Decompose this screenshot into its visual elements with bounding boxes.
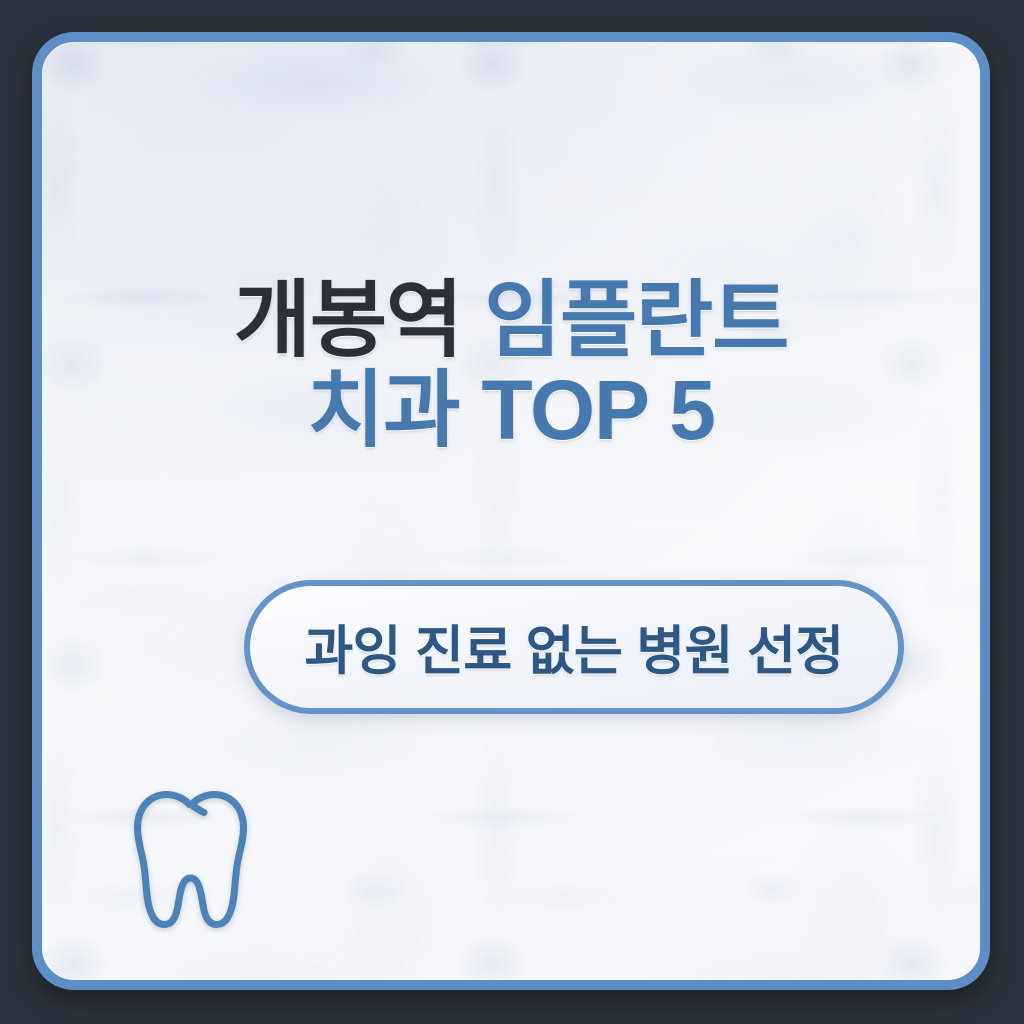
headline-keyword: 임플란트 bbox=[484, 273, 788, 367]
tooth-icon bbox=[130, 790, 248, 930]
page-title: 개봉역 임플란트 치과 TOP 5 bbox=[42, 276, 980, 456]
poster-card: 개봉역 임플란트 치과 TOP 5 과잉 진료 없는 병원 선정 bbox=[32, 32, 990, 990]
headline-space bbox=[462, 273, 484, 367]
headline-location: 개봉역 bbox=[234, 273, 462, 367]
highlight-pill-label: 과잉 진료 없는 병원 선정 bbox=[304, 609, 843, 685]
headline-line-1: 개봉역 임플란트 bbox=[42, 276, 980, 366]
headline-line-2: 치과 TOP 5 bbox=[42, 366, 980, 456]
highlight-pill-button[interactable]: 과잉 진료 없는 병원 선정 bbox=[244, 580, 904, 714]
poster-canvas: 개봉역 임플란트 치과 TOP 5 과잉 진료 없는 병원 선정 bbox=[0, 0, 1024, 1024]
